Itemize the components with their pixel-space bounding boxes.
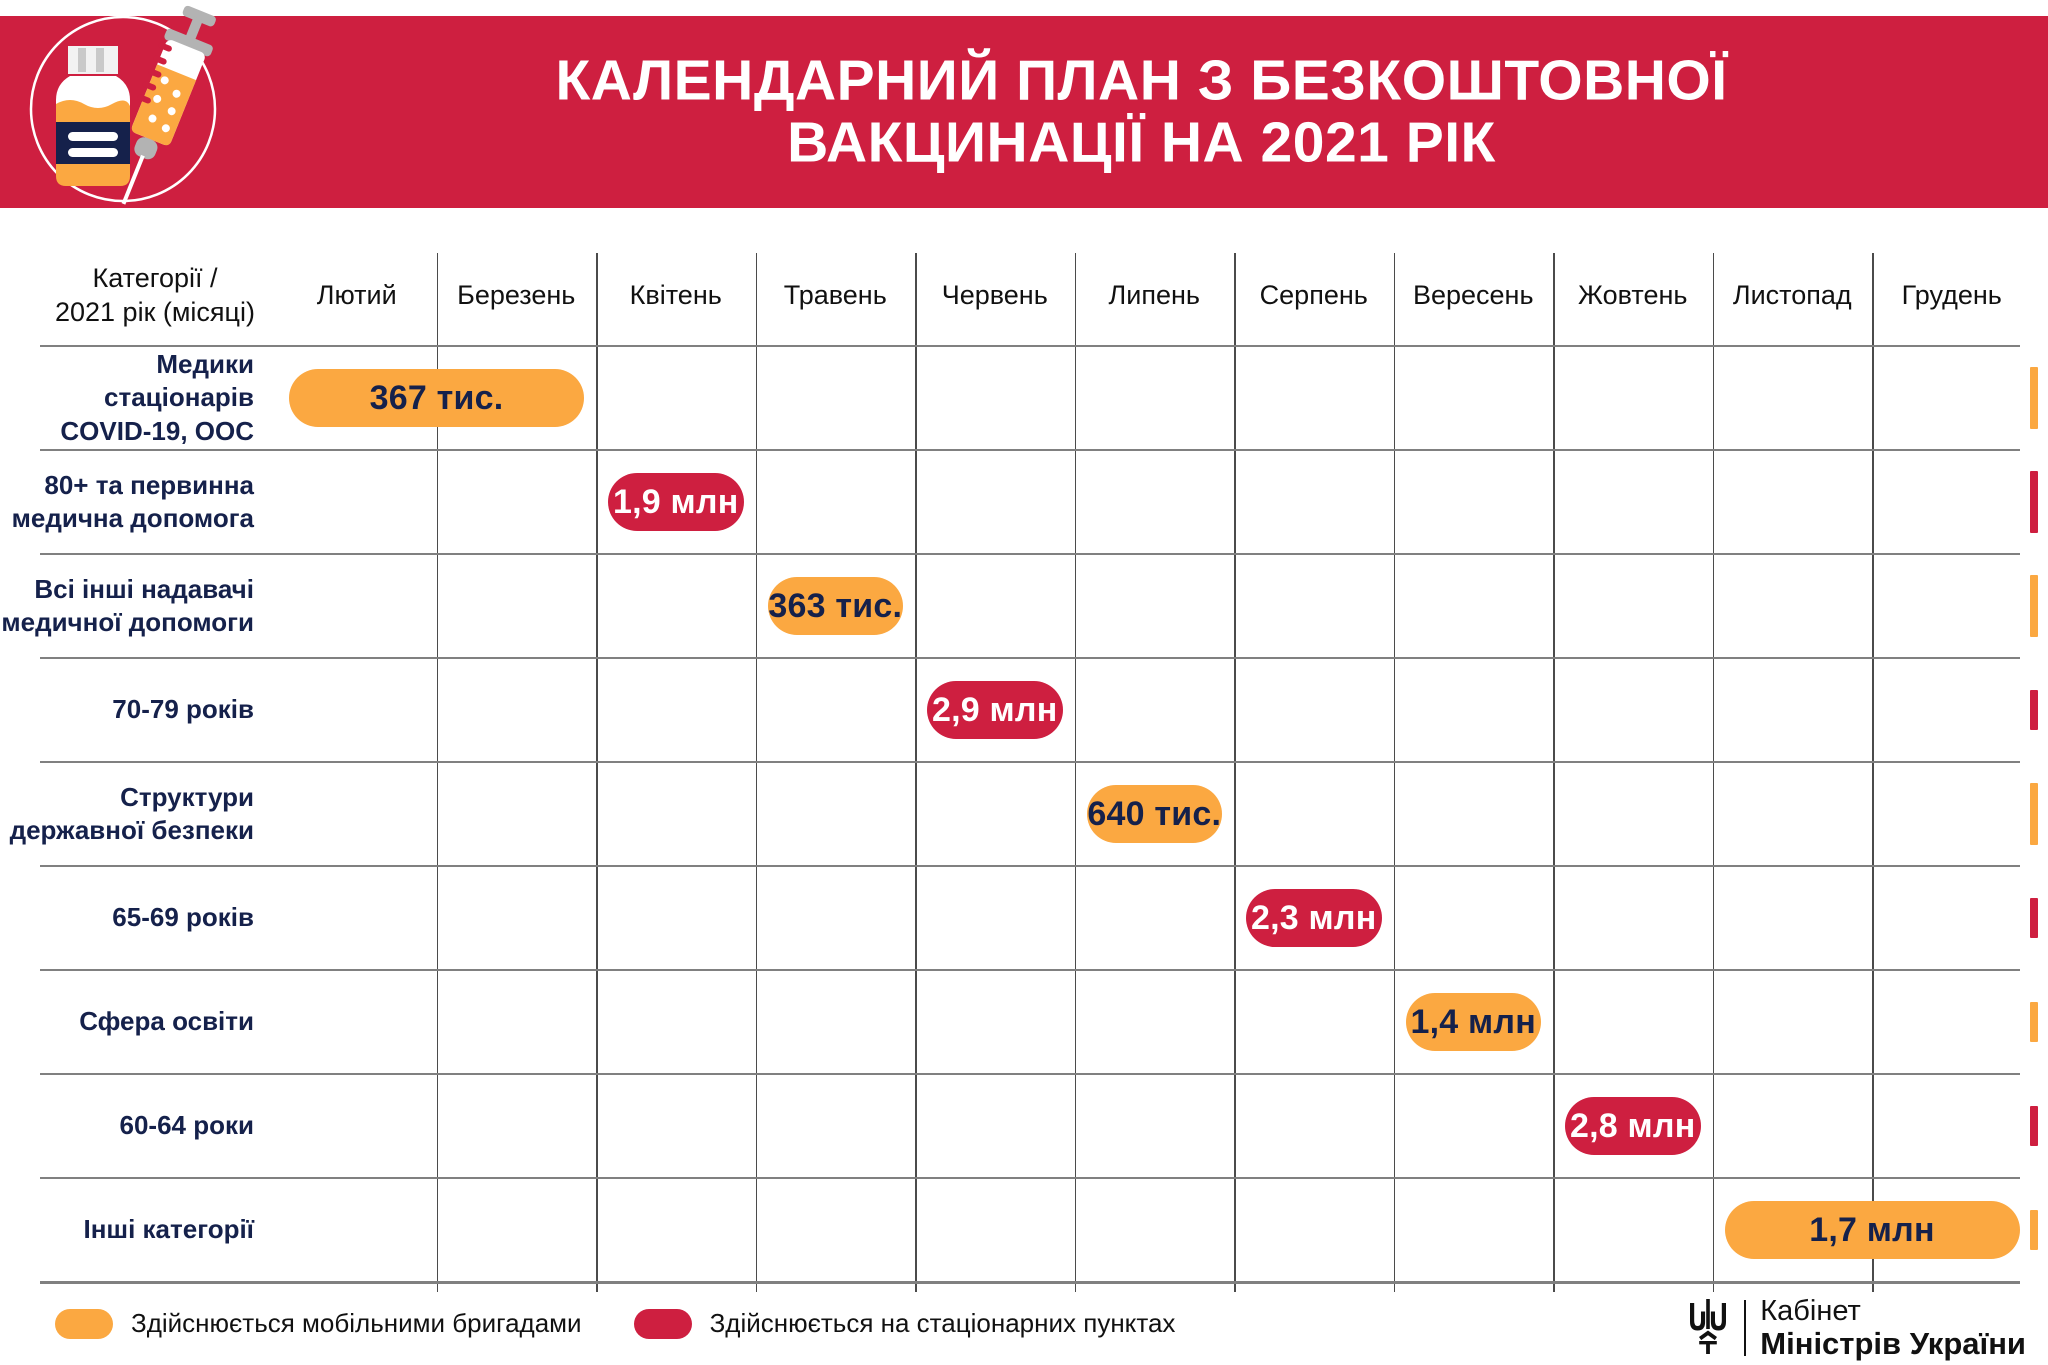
row-label-line2: медична допомога <box>12 502 254 535</box>
month-header-1: Лютий <box>277 253 437 338</box>
row-label-line1: Структури <box>10 781 254 814</box>
row-label: Всі інші надавачімедичної допомоги <box>0 554 278 658</box>
schedule-bar[interactable]: 367 тис. <box>289 369 584 427</box>
table-row: 65-69 років2,3 млн <box>0 866 2048 970</box>
legend: Здійснюється мобільними бригадами Здійсн… <box>55 1308 1175 1339</box>
row-label: Медики стаціонарівCOVID-19, ООС <box>0 346 278 450</box>
table-row: Всі інші надавачімедичної допомоги363 ти… <box>0 554 2048 658</box>
month-header-11: Грудень <box>1872 253 2032 338</box>
row-label-line1: 60-64 роки <box>120 1109 254 1142</box>
month-header-3: Квітень <box>596 253 756 338</box>
row-label: 80+ та первиннамедична допомога <box>0 450 278 554</box>
ukraine-tryzub-icon <box>1686 1297 1730 1360</box>
schedule-bar[interactable]: 2,8 млн <box>1565 1097 1701 1155</box>
table-row: 80+ та первиннамедична допомога1,9 млн <box>0 450 2048 554</box>
row-label-line1: Всі інші надавачі <box>1 573 254 606</box>
month-header-5: Червень <box>915 253 1075 338</box>
row-label-line1: 70-79 років <box>112 693 254 726</box>
table-row: Сфера освіти1,4 млн <box>0 970 2048 1074</box>
gov-logo-line2: Міністрів України <box>1760 1327 2026 1360</box>
row-label: 70-79 років <box>0 658 278 762</box>
schedule-bar[interactable]: 363 тис. <box>768 577 904 635</box>
schedule-bar[interactable]: 2,9 млн <box>927 681 1063 739</box>
page-header: КАЛЕНДАРНИЙ ПЛАН З БЕЗКОШТОВНОЇ ВАКЦИНАЦ… <box>0 16 2048 208</box>
gov-logo-text: Кабінет Міністрів України <box>1760 1296 2026 1361</box>
row-label: Структуридержавної безпеки <box>0 762 278 866</box>
row-accent-orange <box>2030 575 2038 637</box>
row-label-line1: Сфера освіти <box>79 1005 254 1038</box>
vaccination-schedule-table: Категорії / 2021 рік (місяці) ЛютийБерез… <box>0 245 2048 1245</box>
row-accent-orange <box>2030 367 2038 429</box>
month-header-10: Листопад <box>1713 253 1873 338</box>
logo-divider <box>1744 1300 1746 1356</box>
row-accent-red <box>2030 690 2038 730</box>
government-logo: Кабінет Міністрів України <box>1686 1296 2026 1361</box>
month-header-4: Травень <box>756 253 916 338</box>
infographic-page: КАЛЕНДАРНИЙ ПЛАН З БЕЗКОШТОВНОЇ ВАКЦИНАЦ… <box>0 0 2048 1365</box>
vaccine-bottle-syringe-icon <box>20 0 230 218</box>
table-row: Структуридержавної безпеки640 тис. <box>0 762 2048 866</box>
row-label: Інші категорії <box>0 1178 278 1282</box>
row-label: Сфера освіти <box>0 970 278 1074</box>
schedule-bar[interactable]: 2,3 млн <box>1246 889 1382 947</box>
row-accent-orange <box>2030 1002 2038 1042</box>
row-accent-red <box>2030 898 2038 938</box>
row-label-line1: Медики стаціонарів <box>0 348 254 415</box>
row-label: 65-69 років <box>0 866 278 970</box>
table-row: 70-79 років2,9 млн <box>0 658 2048 762</box>
row-label-line2: медичної допомоги <box>1 606 254 639</box>
month-header-2: Березень <box>437 253 597 338</box>
table-row: Інші категорії1,7 млн <box>0 1178 2048 1282</box>
footer-divider <box>40 1282 2020 1284</box>
row-label-line2: COVID-19, ООС <box>0 415 254 448</box>
schedule-bar[interactable]: 640 тис. <box>1087 785 1223 843</box>
page-title-line2: ВАКЦИНАЦІЇ НА 2021 РІК <box>255 112 2028 174</box>
month-header-9: Жовтень <box>1553 253 1713 338</box>
row-accent-orange <box>2030 1210 2038 1250</box>
schedule-bar[interactable]: 1,4 млн <box>1406 993 1542 1051</box>
gov-logo-line1: Кабінет <box>1760 1296 2026 1327</box>
page-title-line1: КАЛЕНДАРНИЙ ПЛАН З БЕЗКОШТОВНОЇ <box>255 50 2028 112</box>
schedule-bar[interactable]: 1,9 млн <box>608 473 744 531</box>
schedule-bar[interactable]: 1,7 млн <box>1725 1201 2020 1259</box>
legend-swatch-orange <box>55 1309 113 1339</box>
row-accent-red <box>2030 471 2038 533</box>
row-accent-orange <box>2030 783 2038 845</box>
month-header-6: Липень <box>1075 253 1235 338</box>
category-column-header: Категорії / 2021 рік (місяці) <box>40 253 270 338</box>
row-accent-red <box>2030 1106 2038 1146</box>
page-title: КАЛЕНДАРНИЙ ПЛАН З БЕЗКОШТОВНОЇ ВАКЦИНАЦ… <box>255 50 2028 173</box>
category-header-line2: 2021 рік (місяці) <box>55 296 255 330</box>
row-label: 60-64 роки <box>0 1074 278 1178</box>
legend-label-mobile: Здійснюється мобільними бригадами <box>131 1308 582 1339</box>
category-header-line1: Категорії / <box>92 262 217 296</box>
legend-item-mobile: Здійснюється мобільними бригадами <box>55 1308 582 1339</box>
legend-label-stationary: Здійснюється на стаціонарних пунктах <box>710 1308 1176 1339</box>
row-label-line2: державної безпеки <box>10 814 254 847</box>
row-label-line1: Інші категорії <box>84 1213 255 1246</box>
table-row: Медики стаціонарівCOVID-19, ООС367 тис. <box>0 346 2048 450</box>
month-header-8: Вересень <box>1394 253 1554 338</box>
row-label-line1: 65-69 років <box>112 901 254 934</box>
legend-swatch-red <box>634 1309 692 1339</box>
table-row: 60-64 роки2,8 млн <box>0 1074 2048 1178</box>
row-label-line1: 80+ та первинна <box>12 469 254 502</box>
legend-item-stationary: Здійснюється на стаціонарних пунктах <box>634 1308 1176 1339</box>
month-header-7: Серпень <box>1234 253 1394 338</box>
